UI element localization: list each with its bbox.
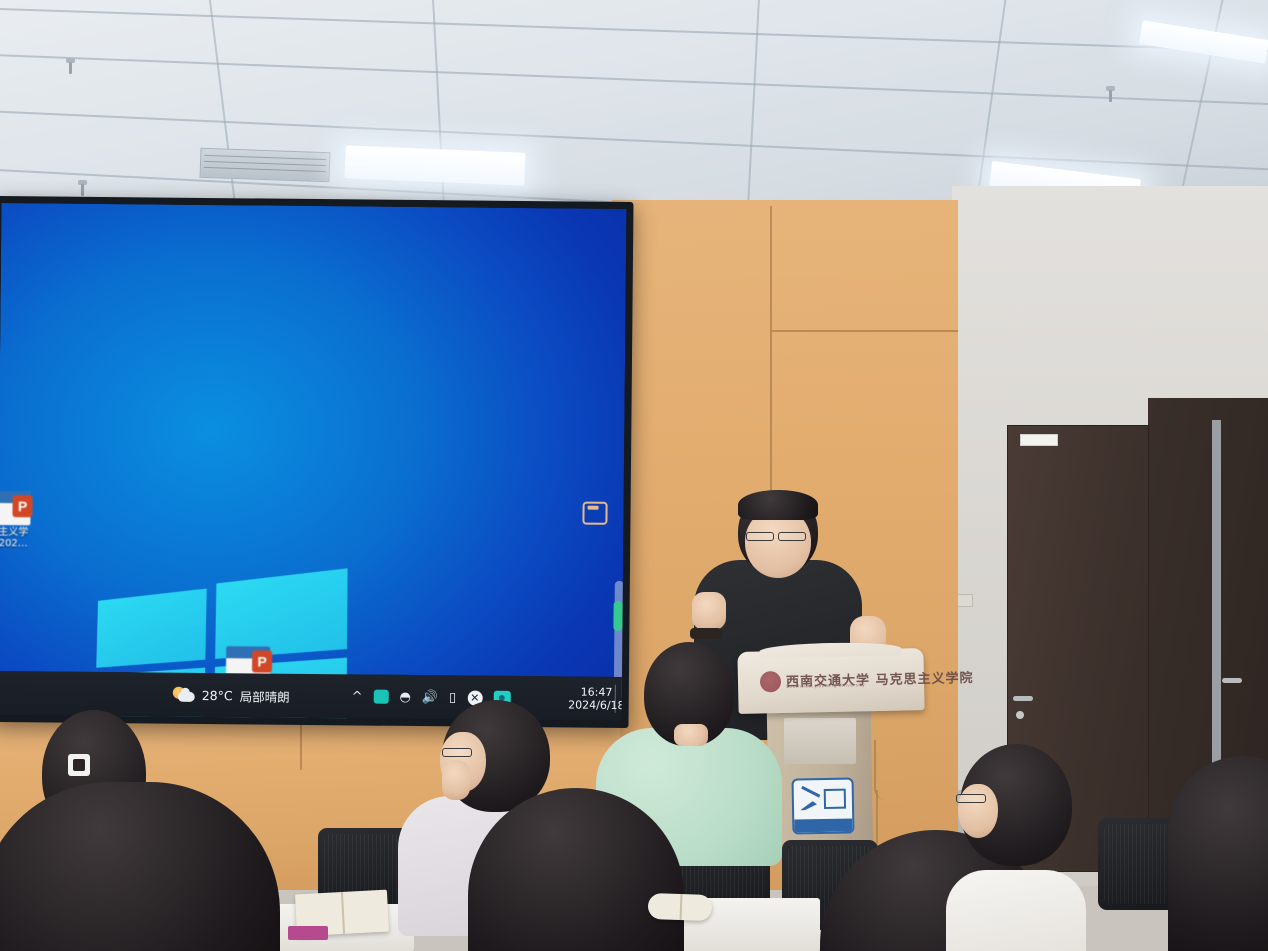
notebook xyxy=(648,893,713,921)
speaker-wristwatch xyxy=(690,628,722,639)
speaker-glasses xyxy=(746,532,774,541)
door-handle-second[interactable] xyxy=(1222,678,1242,683)
screen-scrollbar-thumb[interactable] xyxy=(613,601,622,631)
desktop-icon-label-line1: …主义学 xyxy=(0,527,54,539)
wood-panel-seam xyxy=(772,330,958,332)
sprinkler-head xyxy=(1106,86,1115,102)
screen-mirror-icon[interactable] xyxy=(582,502,607,525)
student-glasses xyxy=(442,748,472,757)
ceiling xyxy=(0,0,1268,215)
classroom-photo: P …主义学 …202… P 2024诚信考 试班会 思… 28 xyxy=(0,0,1268,951)
chevron-up-icon[interactable]: ^ xyxy=(352,690,363,703)
desktop-icon-ppt-left[interactable]: P …主义学 …202… xyxy=(0,491,55,550)
presentation-display[interactable]: P …主义学 …202… P 2024诚信考 试班会 思… 28 xyxy=(0,196,634,728)
speaker-glasses xyxy=(778,532,806,541)
podium-shelf xyxy=(784,718,856,764)
student-face xyxy=(958,784,998,838)
student-right-edge xyxy=(1168,756,1268,951)
wall-cable xyxy=(874,740,886,800)
sprinkler-head xyxy=(78,180,87,196)
student-glasses xyxy=(956,794,986,803)
student-glasses-right xyxy=(936,740,1096,950)
student-hand xyxy=(442,760,470,800)
air-vent xyxy=(200,148,331,183)
podium-sign-text-en: Southwest Jiaotong University xyxy=(786,683,865,690)
powerpoint-icon: P xyxy=(0,491,31,525)
weather-temperature: 28°C xyxy=(202,687,233,702)
hair-clip-icon xyxy=(73,759,85,771)
door-lock[interactable] xyxy=(1016,711,1024,719)
windows-desktop[interactable]: P …主义学 …202… P 2024诚信考 试班会 思… xyxy=(0,203,626,677)
door-room-sign xyxy=(1020,434,1058,446)
door-handle[interactable] xyxy=(1013,696,1033,701)
desktop-icon-label-line2: …202… xyxy=(0,538,54,550)
taskbar-weather-widget[interactable]: 28°C 局部晴朗 xyxy=(173,685,290,705)
sprinkler-head xyxy=(66,58,75,74)
led-panel-light xyxy=(1139,20,1268,64)
app-teal-icon[interactable] xyxy=(373,690,388,704)
led-panel-light xyxy=(344,145,525,186)
podium-emblem-icon xyxy=(792,777,855,834)
wall-outlet xyxy=(956,594,973,607)
student-neck xyxy=(674,724,708,746)
sun-behind-cloud-icon xyxy=(173,687,195,703)
book-page-marker xyxy=(288,926,328,940)
student-top-white xyxy=(946,870,1086,951)
speaker-hair-top xyxy=(738,490,818,520)
speaker-fist xyxy=(692,592,726,630)
weather-description: 局部晴朗 xyxy=(240,686,290,705)
